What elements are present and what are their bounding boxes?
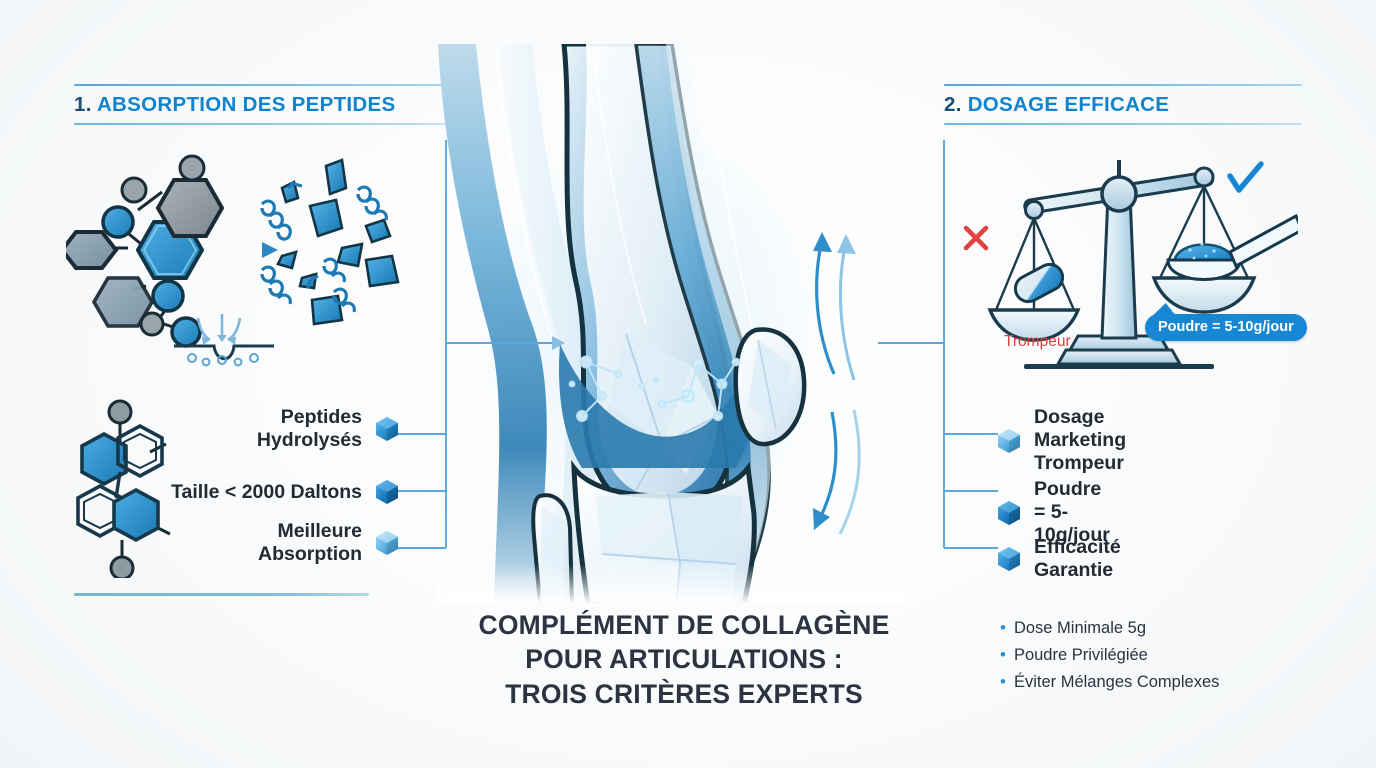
heading-rule-bottom (944, 123, 1302, 125)
x-mark-icon (966, 228, 986, 248)
hexagon-marker (996, 499, 1022, 527)
knee-joint-anatomy-illustration (436, 44, 906, 604)
sub-bullet-list: • Dose Minimale 5g • Poudre Privilégiée … (1000, 618, 1219, 699)
list-item[interactable]: • Éviter Mélanges Complexes (1000, 672, 1219, 693)
check-mark-icon (1230, 164, 1261, 190)
list-item[interactable]: Dosage MarketingTrompeur (996, 406, 1126, 475)
page-title-line: TROIS CRITÈRES EXPERTS (404, 677, 964, 711)
left-column-heading-text: 1. ABSORPTION DES PEPTIDES (74, 86, 446, 123)
page-title: COMPLÉMENT DE COLLAGÈNE POUR ARTICULATIO… (404, 608, 964, 711)
powder-dose-callout-text: Poudre = 5-10g/jour (1158, 319, 1294, 335)
list-item[interactable]: • Dose Minimale 5g (1000, 618, 1219, 639)
bullet-label: Efficacité Garantie (1034, 536, 1121, 582)
callout-pointer (1153, 303, 1178, 315)
hexagon-marker (996, 427, 1022, 455)
capsule-pill-icon (1011, 260, 1067, 306)
bullet-label: Taille < 2000 Daltons (171, 481, 362, 504)
sub-bullet-label: Dose Minimale 5g (1014, 618, 1146, 639)
right-column-number: 2. (944, 93, 962, 116)
bullet-dot-icon: • (1000, 672, 1006, 692)
hexagon-marker (996, 545, 1022, 573)
hexagon-marker (374, 529, 400, 557)
bullet-label: Dosage MarketingTrompeur (1034, 406, 1126, 475)
left-column-title: ABSORPTION DES PEPTIDES (97, 93, 396, 116)
bullet-label: PeptidesHydrolysés (257, 406, 362, 452)
right-column-heading-text: 2. DOSAGE EFFICACE (944, 86, 1302, 123)
bullet-dot-icon: • (1000, 645, 1006, 665)
list-item[interactable]: MeilleureAbsorption (200, 520, 400, 566)
bullet-label: MeilleureAbsorption (258, 520, 362, 566)
infographic-canvas: 1. ABSORPTION DES PEPTIDES 2. DOSAGE EFF… (0, 0, 1376, 768)
list-item[interactable]: PeptidesHydrolysés (200, 406, 400, 452)
sub-bullet-label: Poudre Privilégiée (1014, 645, 1148, 666)
list-item[interactable]: Taille < 2000 Daltons (140, 478, 400, 506)
sub-bullet-label: Éviter Mélanges Complexes (1014, 672, 1219, 693)
left-column-number: 1. (74, 93, 92, 116)
page-title-line: POUR ARTICULATIONS : (404, 642, 964, 676)
left-column-heading: 1. ABSORPTION DES PEPTIDES (74, 84, 446, 125)
page-title-line: COMPLÉMENT DE COLLAGÈNE (404, 608, 964, 642)
collagen-molecule-breakdown-illustration (66, 150, 406, 370)
bullet-dot-icon: • (1000, 618, 1006, 638)
heading-rule-bottom (74, 123, 446, 125)
powder-dose-callout: Poudre = 5-10g/jour (1145, 314, 1307, 341)
list-item[interactable]: • Poudre Privilégiée (1000, 645, 1219, 666)
trompeur-label: Trompeur (1004, 333, 1071, 351)
right-column-heading: 2. DOSAGE EFFICACE (944, 84, 1302, 125)
hexagon-marker (374, 478, 400, 506)
left-column-divider (74, 593, 369, 596)
hexagon-marker (374, 415, 400, 443)
list-item[interactable]: Efficacité Garantie (996, 536, 1121, 582)
right-column-title: DOSAGE EFFICACE (968, 93, 1170, 116)
